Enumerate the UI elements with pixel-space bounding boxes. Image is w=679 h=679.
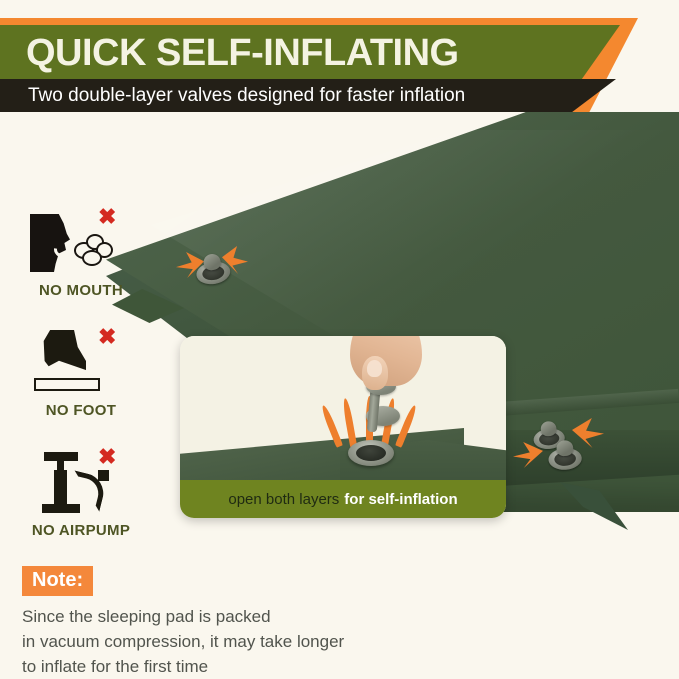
caption-text-bold: for self-inflation (344, 491, 457, 508)
page-subtitle: Two double-layer valves designed for fas… (28, 82, 465, 110)
restriction-label: NO MOUTH (16, 282, 146, 299)
valve-demo-photo (180, 336, 506, 482)
caption-text-normal: open both layers (228, 491, 339, 508)
note-body: Since the sleeping pad is packed in vacu… (22, 604, 442, 679)
restriction-label: NO AIRPUMP (16, 522, 146, 539)
restriction-item-no-foot: ✖ NO FOOT (16, 326, 146, 430)
valve-demo-caption: open both layers for self-inflation (180, 480, 506, 518)
note-block: Note: Since the sleeping pad is packed i… (22, 566, 442, 679)
infographic-page: QUICK SELF-INFLATING Two double-layer va… (0, 0, 679, 679)
restriction-item-no-mouth: ✖ NO MOUTH (16, 206, 146, 310)
pump-handle (44, 452, 78, 461)
valve-icon (194, 256, 232, 287)
note-line-2: in vacuum compression, it may take longe… (22, 629, 442, 654)
cross-icon: ✖ (98, 446, 116, 468)
cross-icon: ✖ (98, 206, 116, 228)
page-title: QUICK SELF-INFLATING (26, 27, 459, 80)
cross-icon: ✖ (98, 326, 116, 348)
pump-pedal (34, 378, 100, 391)
note-badge: Note: (22, 566, 93, 596)
thumb-nail (367, 360, 382, 377)
demo-valve-ring (348, 440, 394, 466)
restriction-list: ✖ NO MOUTH ✖ NO FOOT ✖ NO AI (16, 206, 146, 566)
restriction-label: NO FOOT (16, 402, 146, 419)
no-mouth-icon: ✖ (24, 206, 144, 278)
header-banner: QUICK SELF-INFLATING Two double-layer va… (0, 0, 679, 125)
note-line-1: Since the sleeping pad is packed (22, 604, 442, 629)
no-foot-icon: ✖ (24, 326, 144, 398)
valve-demo-panel: open both layers for self-inflation (180, 336, 506, 518)
valve-icon (547, 443, 582, 471)
no-airpump-icon: ✖ (24, 446, 144, 518)
note-line-3: to inflate for the first time (22, 654, 442, 679)
pump-nozzle (98, 470, 109, 481)
restriction-item-no-airpump: ✖ NO AIRPUMP (16, 446, 146, 550)
pump-neck (57, 461, 64, 470)
pump-barrel (54, 470, 67, 506)
air-puff-icon (82, 250, 102, 266)
